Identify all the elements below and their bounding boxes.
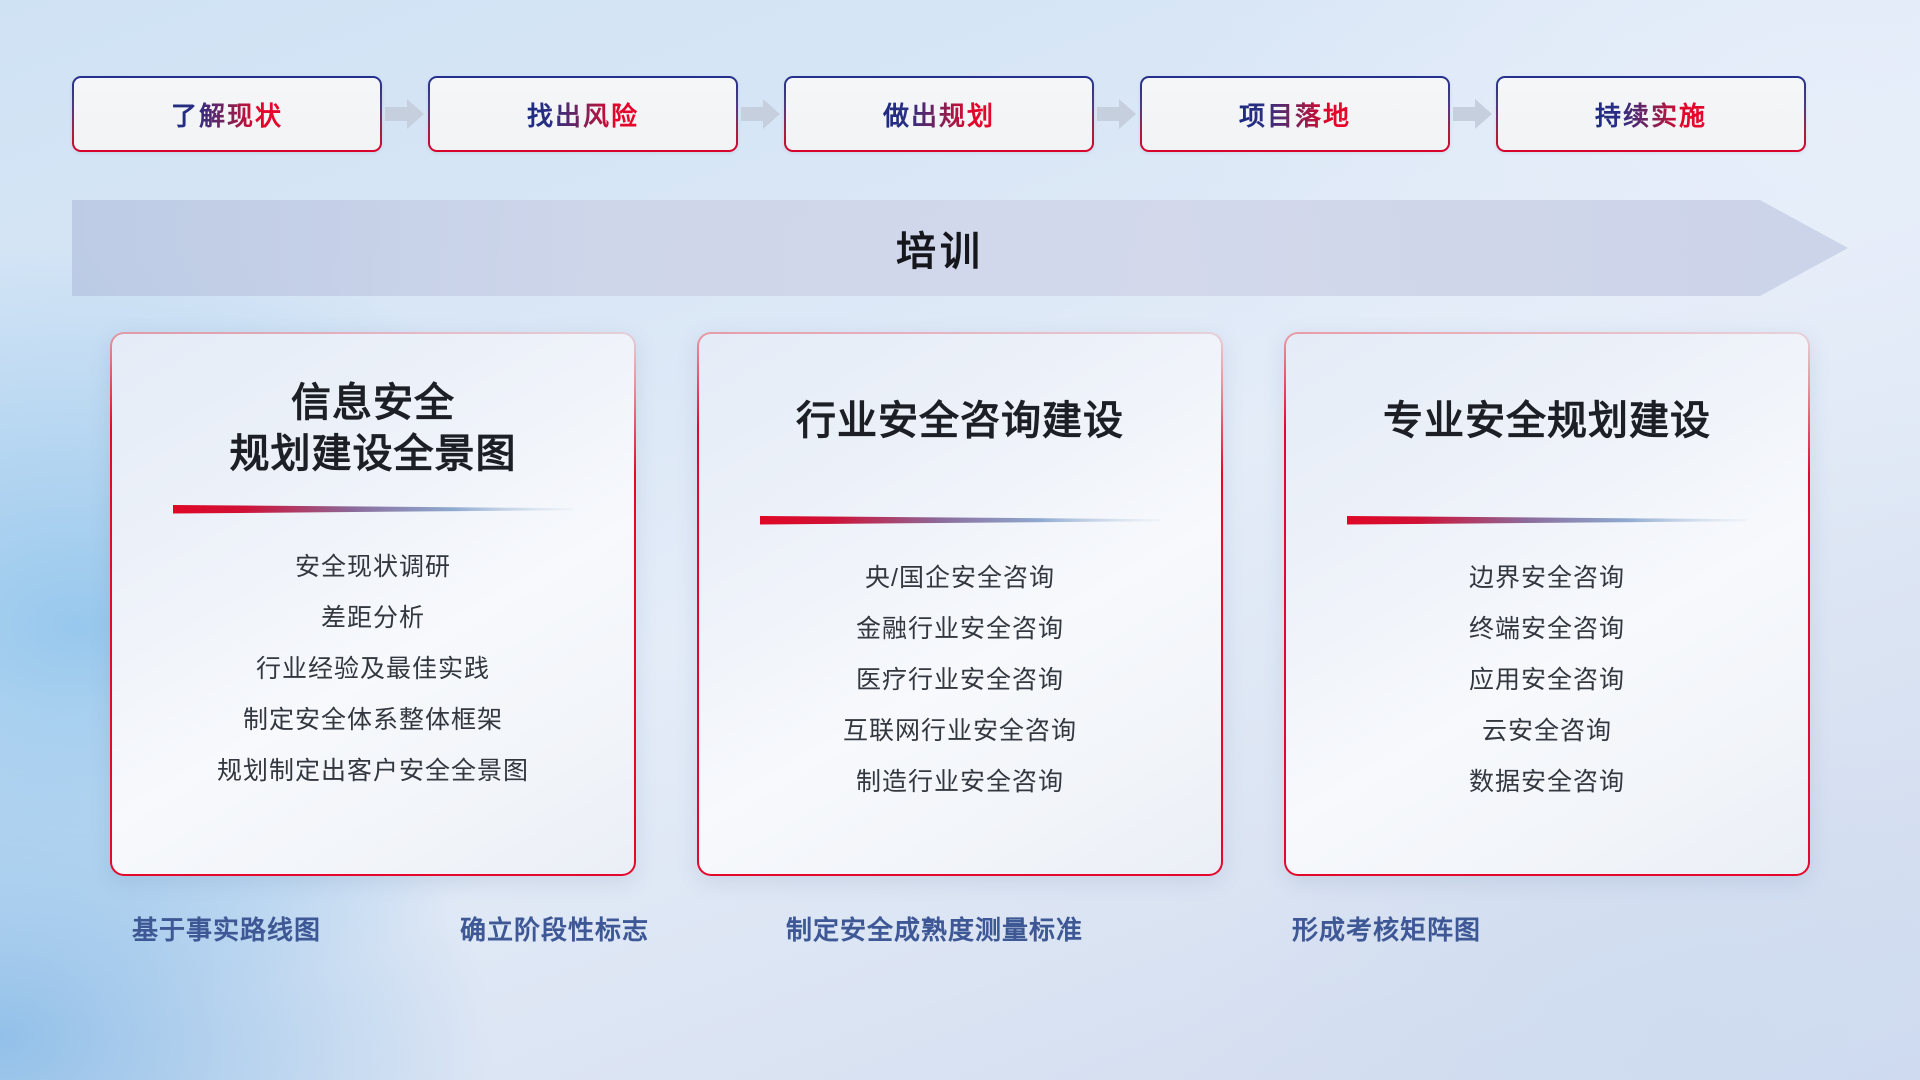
list-item: 终端安全咨询 (1469, 608, 1625, 651)
list-item: 规划制定出客户安全全景图 (217, 750, 529, 793)
list-item: 行业经验及最佳实践 (256, 648, 490, 691)
card-title-line: 规划建设全景图 (230, 429, 517, 480)
list-item: 金融行业安全咨询 (856, 608, 1064, 651)
list-item: 差距分析 (321, 597, 425, 640)
card-title-line: 专业安全规划建设 (1383, 396, 1711, 447)
list-item: 数据安全咨询 (1469, 761, 1625, 804)
process-arrow-icon-0 (382, 78, 428, 150)
card-item-list: 央/国企安全咨询 金融行业安全咨询 医疗行业安全咨询 互联网行业安全咨询 制造行… (699, 557, 1221, 804)
process-step-1[interactable]: 找出风险 (428, 76, 738, 152)
card-title: 专业安全规划建设 (1365, 396, 1729, 447)
list-item: 制定安全体系整体框架 (243, 699, 503, 742)
card-row: 信息安全 规划建设全景图 (110, 332, 1810, 882)
process-step-label: 了解现状 (171, 96, 283, 133)
process-arrow-icon-3 (1450, 78, 1496, 150)
process-step-4[interactable]: 持续实施 (1496, 76, 1806, 152)
list-item: 互联网行业安全咨询 (843, 710, 1077, 753)
card-industry-security-consulting[interactable]: 行业安全咨询建设 央/国 (697, 332, 1223, 876)
card-divider (699, 513, 1221, 527)
footer-label-maturity-standard: 制定安全成熟度测量标准 (786, 910, 1083, 947)
card-divider (112, 502, 634, 516)
card-information-security-blueprint[interactable]: 信息安全 规划建设全景图 (110, 332, 636, 876)
process-arrow-icon-1 (738, 78, 784, 150)
list-item: 央/国企安全咨询 (865, 557, 1055, 600)
card-title-line: 信息安全 (230, 378, 517, 429)
list-item: 边界安全咨询 (1469, 557, 1625, 600)
list-item: 云安全咨询 (1482, 710, 1612, 753)
card-item-list: 边界安全咨询 终端安全咨询 应用安全咨询 云安全咨询 数据安全咨询 (1286, 557, 1808, 804)
process-step-2[interactable]: 做出规划 (784, 76, 1094, 152)
process-step-label: 持续实施 (1595, 96, 1707, 133)
list-item: 医疗行业安全咨询 (856, 659, 1064, 702)
process-step-0[interactable]: 了解现状 (72, 76, 382, 152)
footer-label-assessment-matrix: 形成考核矩阵图 (1292, 910, 1481, 947)
footer-label-roadmap: 基于事实路线图 (132, 910, 321, 947)
list-item: 制造行业安全咨询 (856, 761, 1064, 804)
process-step-row: 了解现状 找出风险 做出规划 项目落地 持续实施 (72, 78, 1848, 150)
card-title: 行业安全咨询建设 (778, 396, 1142, 447)
training-banner: 培训 (72, 200, 1848, 296)
process-step-label: 做出规划 (883, 96, 995, 133)
card-title-line: 行业安全咨询建设 (796, 396, 1124, 447)
slide-canvas: 了解现状 找出风险 做出规划 项目落地 持续实施 (0, 0, 1920, 1080)
banner-title: 培训 (72, 200, 1848, 296)
process-step-3[interactable]: 项目落地 (1140, 76, 1450, 152)
footer-label-milestone: 确立阶段性标志 (460, 910, 649, 947)
card-professional-security-planning[interactable]: 专业安全规划建设 边界安 (1284, 332, 1810, 876)
card-divider (1286, 513, 1808, 527)
process-step-label: 找出风险 (527, 96, 639, 133)
card-item-list: 安全现状调研 差距分析 行业经验及最佳实践 制定安全体系整体框架 规划制定出客户… (112, 546, 634, 793)
process-step-label: 项目落地 (1239, 96, 1351, 133)
list-item: 安全现状调研 (295, 546, 451, 589)
list-item: 应用安全咨询 (1469, 659, 1625, 702)
footer-label-row: 基于事实路线图 确立阶段性标志 制定安全成熟度测量标准 形成考核矩阵图 (0, 910, 1920, 970)
card-title: 信息安全 规划建设全景图 (212, 378, 535, 480)
process-arrow-icon-2 (1094, 78, 1140, 150)
